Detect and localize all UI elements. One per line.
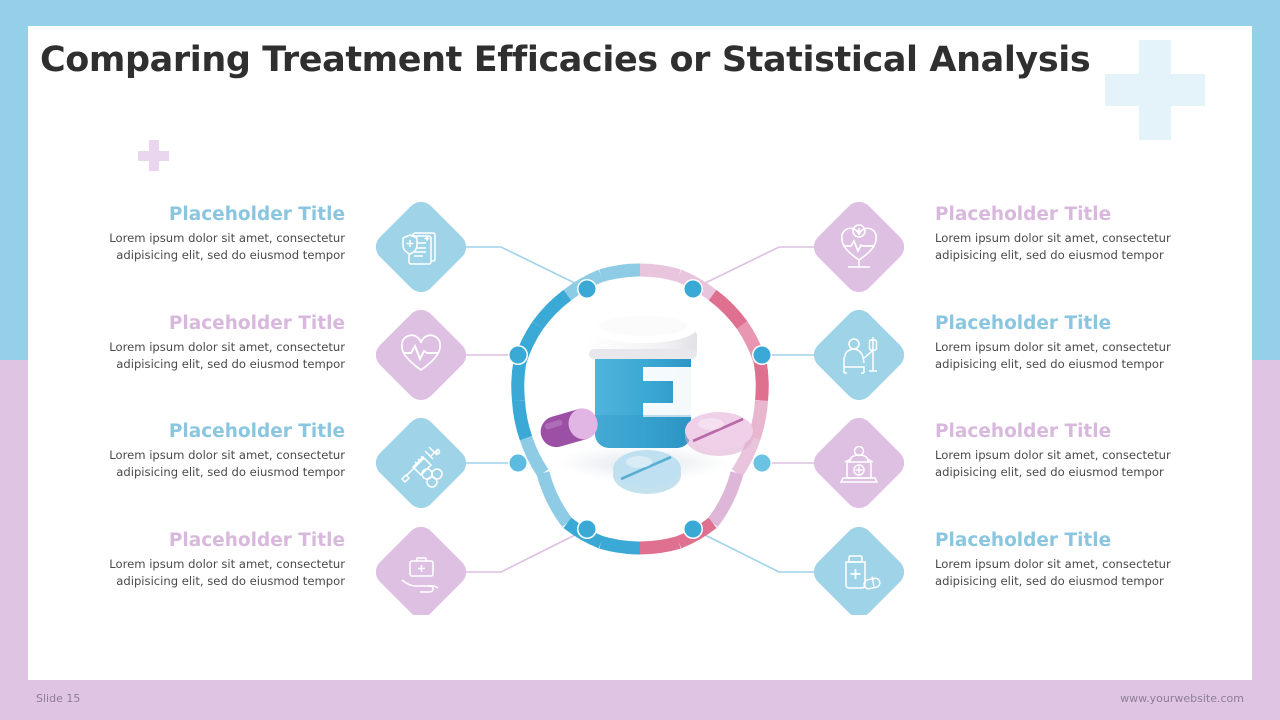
node-body-left-4: Lorem ipsum dolor sit amet, consectetur … <box>65 556 345 589</box>
node-title-right-4: Placeholder Title <box>935 530 1215 552</box>
blue-tablet-pill <box>613 450 681 494</box>
node-body-right-3: Lorem ipsum dolor sit amet, consectetur … <box>935 447 1215 480</box>
ring-segment-1 <box>601 270 640 276</box>
node-title-left-1: Placeholder Title <box>65 204 345 226</box>
footer-website-url: www.yourwebsite.com <box>1120 692 1244 705</box>
node-title-right-3: Placeholder Title <box>935 421 1215 443</box>
diamond-node-right-1[interactable] <box>808 196 910 298</box>
text-block-left-2: Placeholder Title Lorem ipsum dolor sit … <box>65 313 345 372</box>
ring-dot-6 <box>754 347 771 364</box>
node-body-right-4: Lorem ipsum dolor sit amet, consectetur … <box>935 556 1215 589</box>
node-title-left-3: Placeholder Title <box>65 421 345 443</box>
ring-segment-8 <box>543 473 567 523</box>
node-title-right-2: Placeholder Title <box>935 313 1215 335</box>
node-body-right-2: Lorem ipsum dolor sit amet, consectetur … <box>935 339 1215 372</box>
ring-dot-1 <box>579 281 596 298</box>
ring-segment-15 <box>760 362 762 400</box>
text-block-left-4: Placeholder Title Lorem ipsum dolor sit … <box>65 530 345 589</box>
ring-segment-10 <box>601 542 640 548</box>
node-title-right-1: Placeholder Title <box>935 204 1215 226</box>
ring-segment-16 <box>754 401 762 439</box>
node-body-left-1: Lorem ipsum dolor sit amet, consectetur … <box>65 230 345 263</box>
ring-dot-2 <box>510 347 527 364</box>
slide-root: Comparing Treatment Efficacies or Statis… <box>0 0 1280 720</box>
node-title-left-4: Placeholder Title <box>65 530 345 552</box>
text-block-right-2: Placeholder Title Lorem ipsum dolor sit … <box>935 313 1215 372</box>
ring-dot-7 <box>754 455 771 472</box>
diamond-node-left-2[interactable] <box>370 304 472 406</box>
footer-slide-number: Slide 15 <box>36 692 80 705</box>
node-body-left-3: Lorem ipsum dolor sit amet, consectetur … <box>65 447 345 480</box>
central-infographic-diagram <box>355 185 925 615</box>
ring-segment-13 <box>713 295 743 325</box>
diamond-node-left-1[interactable] <box>370 196 472 298</box>
diamond-node-right-4[interactable] <box>808 521 910 615</box>
text-block-right-1: Placeholder Title Lorem ipsum dolor sit … <box>935 204 1215 263</box>
ring-segment-5 <box>518 362 520 400</box>
pill-bottle-with-tablets-illustration <box>537 313 753 494</box>
page-title: Comparing Treatment Efficacies or Statis… <box>40 40 1200 80</box>
diamond-node-right-3[interactable] <box>808 412 910 514</box>
capsule-pill <box>537 405 601 451</box>
node-body-left-2: Lorem ipsum dolor sit amet, consectetur … <box>65 339 345 372</box>
diamond-node-left-4[interactable] <box>370 521 472 615</box>
text-block-right-4: Placeholder Title Lorem ipsum dolor sit … <box>935 530 1215 589</box>
ring-segment-7 <box>526 438 543 473</box>
ring-dot-3 <box>510 455 527 472</box>
ring-segment-20 <box>640 542 679 548</box>
ring-dot-5 <box>685 281 702 298</box>
ring-segment-6 <box>519 401 527 439</box>
text-block-left-3: Placeholder Title Lorem ipsum dolor sit … <box>65 421 345 480</box>
text-block-right-3: Placeholder Title Lorem ipsum dolor sit … <box>935 421 1215 480</box>
node-title-left-2: Placeholder Title <box>65 313 345 335</box>
pink-tablet-pill <box>685 412 753 456</box>
text-block-left-1: Placeholder Title Lorem ipsum dolor sit … <box>65 204 345 263</box>
ring-dot-4 <box>579 521 596 538</box>
ring-dot-8 <box>685 521 702 538</box>
diamond-node-left-3[interactable] <box>370 412 472 514</box>
node-body-right-1: Lorem ipsum dolor sit amet, consectetur … <box>935 230 1215 263</box>
ring-segment-11 <box>640 270 679 276</box>
ring-segment-3 <box>538 295 568 325</box>
ring-segment-18 <box>713 473 737 523</box>
diamond-node-right-2[interactable] <box>808 304 910 406</box>
